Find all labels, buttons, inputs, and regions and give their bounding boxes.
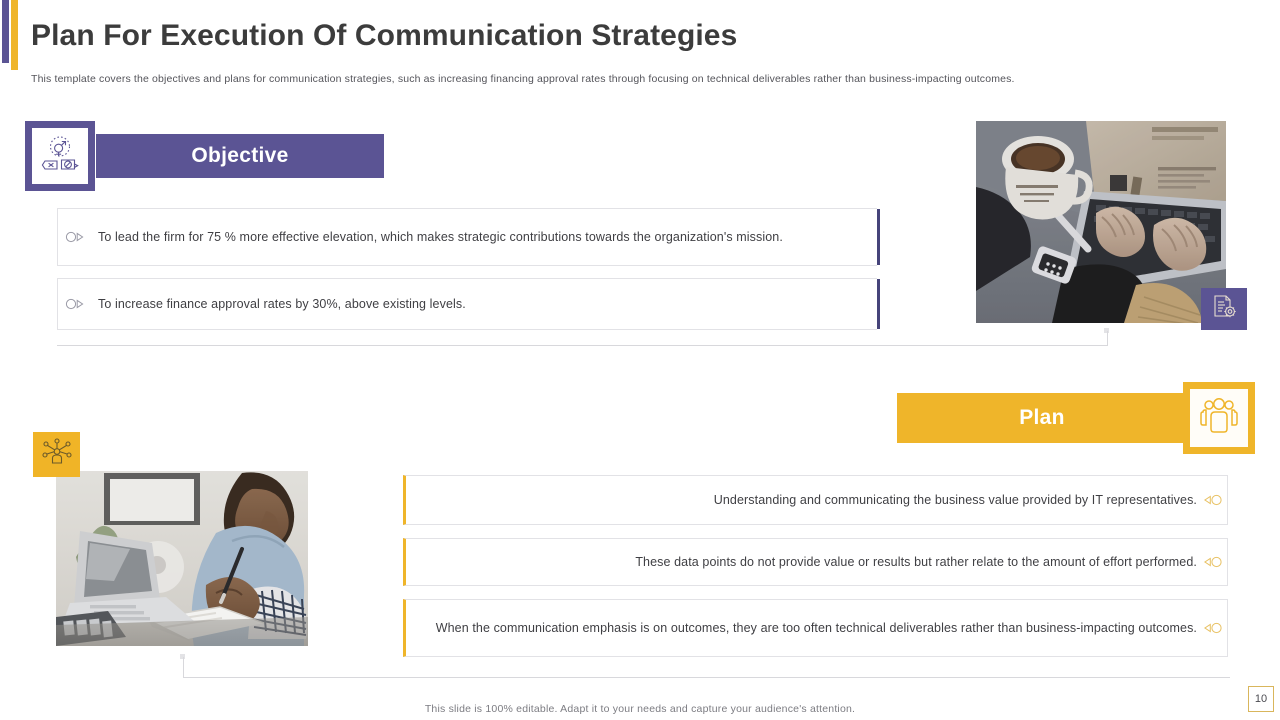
- plan-photo: [56, 471, 308, 646]
- plan-item: When the communication emphasis is on ou…: [403, 599, 1228, 657]
- objective-icon-inner: [32, 128, 88, 184]
- objective-band-label: Objective: [191, 144, 288, 168]
- objective-photo: [976, 121, 1226, 323]
- objective-connector-line: [57, 345, 1107, 346]
- slide: Plan For Execution Of Communication Stra…: [0, 0, 1280, 720]
- plan-icon-inner: [1190, 389, 1248, 447]
- circle-arrow-bullet-icon: [1201, 555, 1223, 569]
- person-network-icon: [42, 438, 72, 471]
- circle-arrow-bullet-icon: [65, 230, 87, 244]
- circle-arrow-bullet-icon: [65, 297, 87, 311]
- objective-item-text: To increase finance approval rates by 30…: [98, 295, 466, 313]
- objective-item: To increase finance approval rates by 30…: [57, 278, 877, 330]
- objective-item-text: To lead the firm for 75 % more effective…: [98, 228, 783, 246]
- title-accent-bar-yellow: [11, 0, 18, 70]
- objective-list: To lead the firm for 75 % more effective…: [57, 208, 877, 342]
- plan-list: Understanding and communicating the busi…: [403, 475, 1228, 670]
- goal-target-icon: [39, 133, 81, 180]
- plan-connector-vertical: [183, 657, 184, 677]
- plan-item: These data points do not provide value o…: [403, 538, 1228, 586]
- plan-icon-box: [1183, 382, 1255, 454]
- title-accent-bar-purple: [2, 0, 9, 63]
- plan-band-label: Plan: [1019, 406, 1065, 430]
- page-title: Plan For Execution Of Communication Stra…: [31, 19, 737, 53]
- objective-photo-badge: [1201, 288, 1247, 330]
- plan-item-text: Understanding and communicating the busi…: [714, 491, 1197, 510]
- circle-arrow-bullet-icon: [1201, 621, 1223, 635]
- page-number-badge: 10: [1248, 686, 1274, 712]
- plan-item-text: These data points do not provide value o…: [635, 553, 1197, 572]
- plan-item-text: When the communication emphasis is on ou…: [436, 619, 1197, 638]
- plan-band: Plan: [897, 393, 1187, 443]
- plan-photo-badge: [33, 432, 80, 477]
- people-group-icon: [1198, 396, 1240, 441]
- plan-item: Understanding and communicating the busi…: [403, 475, 1228, 525]
- objective-item: To lead the firm for 75 % more effective…: [57, 208, 877, 266]
- objective-icon-box: [25, 121, 95, 191]
- circle-arrow-bullet-icon: [1201, 493, 1223, 507]
- plan-connector-line: [183, 677, 1230, 678]
- document-gear-icon: [1210, 293, 1238, 326]
- footer-note: This slide is 100% editable. Adapt it to…: [0, 703, 1280, 715]
- objective-band: Objective: [96, 134, 384, 178]
- objective-connector-vertical: [1107, 331, 1108, 346]
- page-subtitle: This template covers the objectives and …: [31, 73, 1236, 85]
